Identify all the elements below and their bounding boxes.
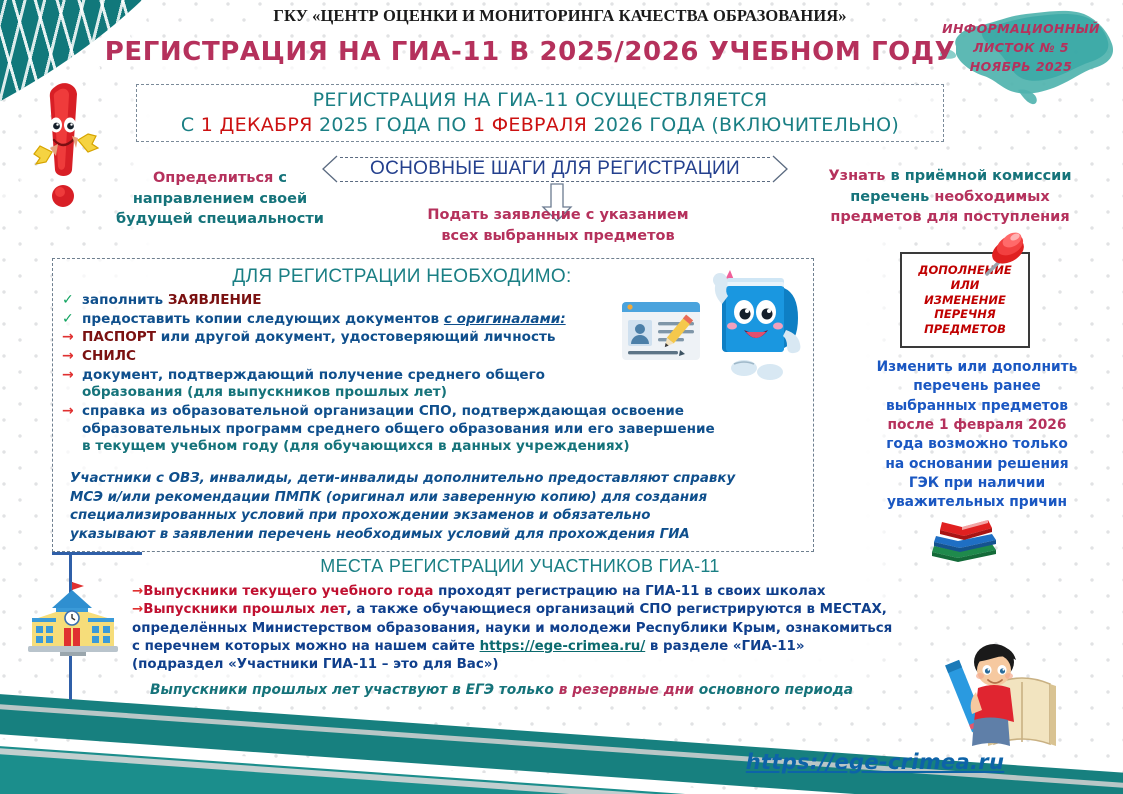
page-title: РЕГИСТРАЦИЯ НА ГИА-11 В 2025/2026 УЧЕБНО… (100, 37, 960, 67)
places-line-5: (подраздел «Участники ГИА-11 – это для В… (132, 656, 922, 674)
badge-line-1: ИНФОРМАЦИОННЫЙ (922, 20, 1120, 39)
arrow-right-icon: → (62, 328, 74, 346)
arrow-right-icon: → (62, 366, 74, 384)
places-line-3: определённых Министерством образования, … (132, 620, 922, 638)
boy-with-book-icon (920, 640, 1090, 750)
registration-period-line-2: С 1 ДЕКАБРЯ 2025 ГОДА ПО 1 ФЕВРАЛЯ 2026 … (181, 113, 899, 138)
subject-change-rules-text: Изменить или дополнить перечень ранее вы… (846, 358, 1108, 513)
requirement-item: →документ, подтверждающий получение сред… (62, 367, 722, 402)
note-line-2: МСЭ и/или рекомендации ПМПК (оригинал ил… (70, 489, 770, 508)
right-note-line-3: выбранных предметов (846, 397, 1108, 416)
right-note-line-5: года возможно только (846, 435, 1108, 454)
requirement-text: с оригиналами: (444, 311, 566, 327)
pin-card-line-3: ИЗМЕНЕНИЕ (918, 293, 1012, 308)
requirement-text: документ, подтверждающий получение средн… (82, 367, 545, 383)
organization-title: ГКУ «ЦЕНТР ОЦЕНКИ И МОНИТОРИНГА КАЧЕСТВА… (180, 6, 940, 26)
arrow-right-icon: → (62, 347, 74, 365)
check-icon: ✓ (62, 291, 74, 309)
right-note-line-6: на основании решения (846, 455, 1108, 474)
requirement-item: →справка из образовательной организации … (62, 403, 722, 456)
steps-banner-label: ОСНОВНЫЕ ШАГИ ДЛЯ РЕГИСТРАЦИИ (370, 158, 740, 180)
requirement-text: в текущем учебном году (для обучающихся … (82, 438, 630, 454)
step-check-admission-list: Узнать в приёмной комиссии перечень необ… (800, 166, 1100, 228)
check-icon: ✓ (62, 310, 74, 328)
registration-period-box: РЕГИСТРАЦИЯ НА ГИА-11 ОСУЩЕСТВЛЯЕТСЯ С 1… (136, 84, 944, 142)
requirement-text: ПАСПОРТ (82, 329, 156, 345)
banner-top-line (340, 157, 770, 158)
note-line-1: Участники с ОВЗ, инвалиды, дети-инвалиды… (70, 470, 770, 489)
requirement-text: заполнить (82, 292, 168, 308)
chevron-right-icon (772, 155, 790, 183)
requirement-text: или другой документ, удостоверяющий личн… (156, 329, 555, 345)
banner-bottom-line (340, 181, 770, 182)
book-mascot-icon (700, 264, 808, 384)
note-line-3: специализированных условий при прохожден… (70, 507, 770, 526)
steps-banner: ОСНОВНЫЕ ШАГИ ДЛЯ РЕГИСТРАЦИИ (320, 155, 790, 183)
poster-canvas: ИНФОРМАЦИОННЫЙ ЛИСТОК № 5 НОЯБРЬ 2025 ГК… (0, 0, 1123, 794)
step-choose-direction: Определиться с направлением своей будуще… (108, 168, 332, 230)
requirement-text: образования (для выпускников прошлых лет… (82, 384, 447, 400)
reserve-days-note: Выпускники прошлых лет участвуют в ЕГЭ т… (150, 682, 910, 700)
pushpin-icon (975, 228, 1031, 284)
right-note-line-1: Изменить или дополнить (846, 358, 1108, 377)
footer-site-url[interactable]: https://ege-crimea.ru (640, 750, 1110, 774)
pin-card-line-5: ПРЕДМЕТОВ (918, 322, 1012, 337)
arrow-right-icon: → (62, 402, 74, 420)
places-line-4: с перечнем которых можно на нашем сайте … (132, 638, 922, 656)
pin-card-line-4: ПЕРЕЧНЯ (918, 307, 1012, 322)
exclamation-mark-mascot-icon (30, 78, 100, 218)
right-note-line-4: после 1 февраля 2026 (846, 416, 1108, 435)
places-text: →Выпускники текущего учебного года прохо… (132, 583, 922, 675)
school-building-icon (26, 578, 120, 664)
requirement-text: ЗАЯВЛЕНИЕ (168, 292, 262, 308)
places-line-1: →Выпускники текущего учебного года прохо… (132, 583, 922, 601)
right-note-line-2: перечень ранее (846, 377, 1108, 396)
places-connector-horizontal (52, 552, 142, 555)
step-center-line-1: Подать заявление с указанием (427, 207, 688, 223)
registration-period-line-1: РЕГИСТРАЦИЯ НА ГИА-11 ОСУЩЕСТВЛЯЕТСЯ (313, 88, 768, 113)
requirement-text: предоставить копии следующих документов (82, 311, 444, 327)
note-line-4: указывают в заявлении перечень необходим… (70, 526, 770, 545)
step-submit-application: Подать заявление с указанием всех выбран… (360, 205, 756, 246)
ege-crimea-link[interactable]: https://ege-crimea.ru/ (480, 639, 646, 654)
requirement-text: СНИЛС (82, 348, 136, 364)
books-stack-icon (918, 508, 1006, 564)
places-line-2: →Выпускники прошлых лет, а также обучающ… (132, 601, 922, 619)
places-heading: МЕСТА РЕГИСТРАЦИИ УЧАСТНИКОВ ГИА-11 (180, 556, 860, 577)
requirements-heading: ДЛЯ РЕГИСТРАЦИИ НЕОБХОДИМО: (52, 266, 752, 288)
requirement-text: справка из образовательной организации С… (82, 403, 684, 419)
id-document-icon (620, 298, 706, 368)
step-center-line-2: всех выбранных предметов (441, 228, 674, 244)
requirement-text: образовательных программ среднего общего… (82, 421, 715, 437)
right-note-line-7: ГЭК при наличии (846, 474, 1108, 493)
special-conditions-note: Участники с ОВЗ, инвалиды, дети-инвалиды… (70, 470, 770, 544)
